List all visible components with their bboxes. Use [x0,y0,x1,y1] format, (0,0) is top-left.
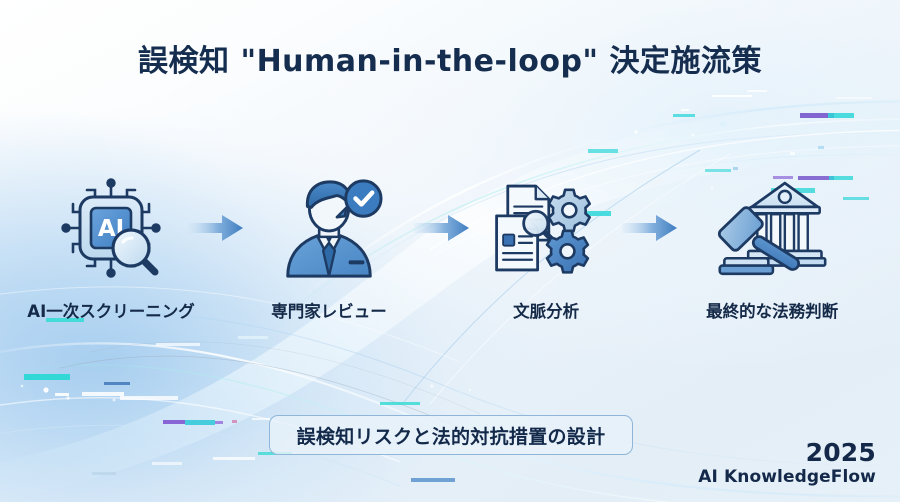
footer: 2025 AI KnowledgeFlow [698,440,876,488]
step-ai-screening[interactable]: AI AI一次スクリーニング [36,172,186,322]
summary-banner: 誤検知リスクと法的対抗措置の設計 [269,415,633,455]
step-context-analysis[interactable]: 文脈分析 [472,172,620,322]
footer-year: 2025 [698,440,876,466]
slide-canvas: 誤検知 "Human-in-the-loop" 決定施流策 [0,0,900,502]
arrow-right-icon [412,172,472,284]
step-label: AI一次スクリーニング [27,298,194,322]
gavel-courthouse-icon [717,172,827,284]
step-legal-decision[interactable]: 最終的な法務判断 [680,172,864,322]
footer-brand: AI KnowledgeFlow [698,466,876,488]
summary-banner-text: 誤検知リスクと法的対抗措置の設計 [297,422,606,449]
step-expert-review[interactable]: 専門家レビュー [246,172,412,322]
arrow-right-icon [620,172,680,284]
step-label: 最終的な法務判断 [706,298,838,322]
page-title: 誤検知 "Human-in-the-loop" 決定施流策 [0,36,900,80]
ai-chip-magnifier-icon: AI [56,172,166,284]
expert-person-check-icon [274,172,384,284]
arrow-right-icon [186,172,246,284]
step-label: 専門家レビュー [271,298,387,322]
documents-gears-icon [491,172,601,284]
step-label: 文脈分析 [513,298,579,322]
process-flow: AI AI一次スクリーニング [36,172,864,344]
